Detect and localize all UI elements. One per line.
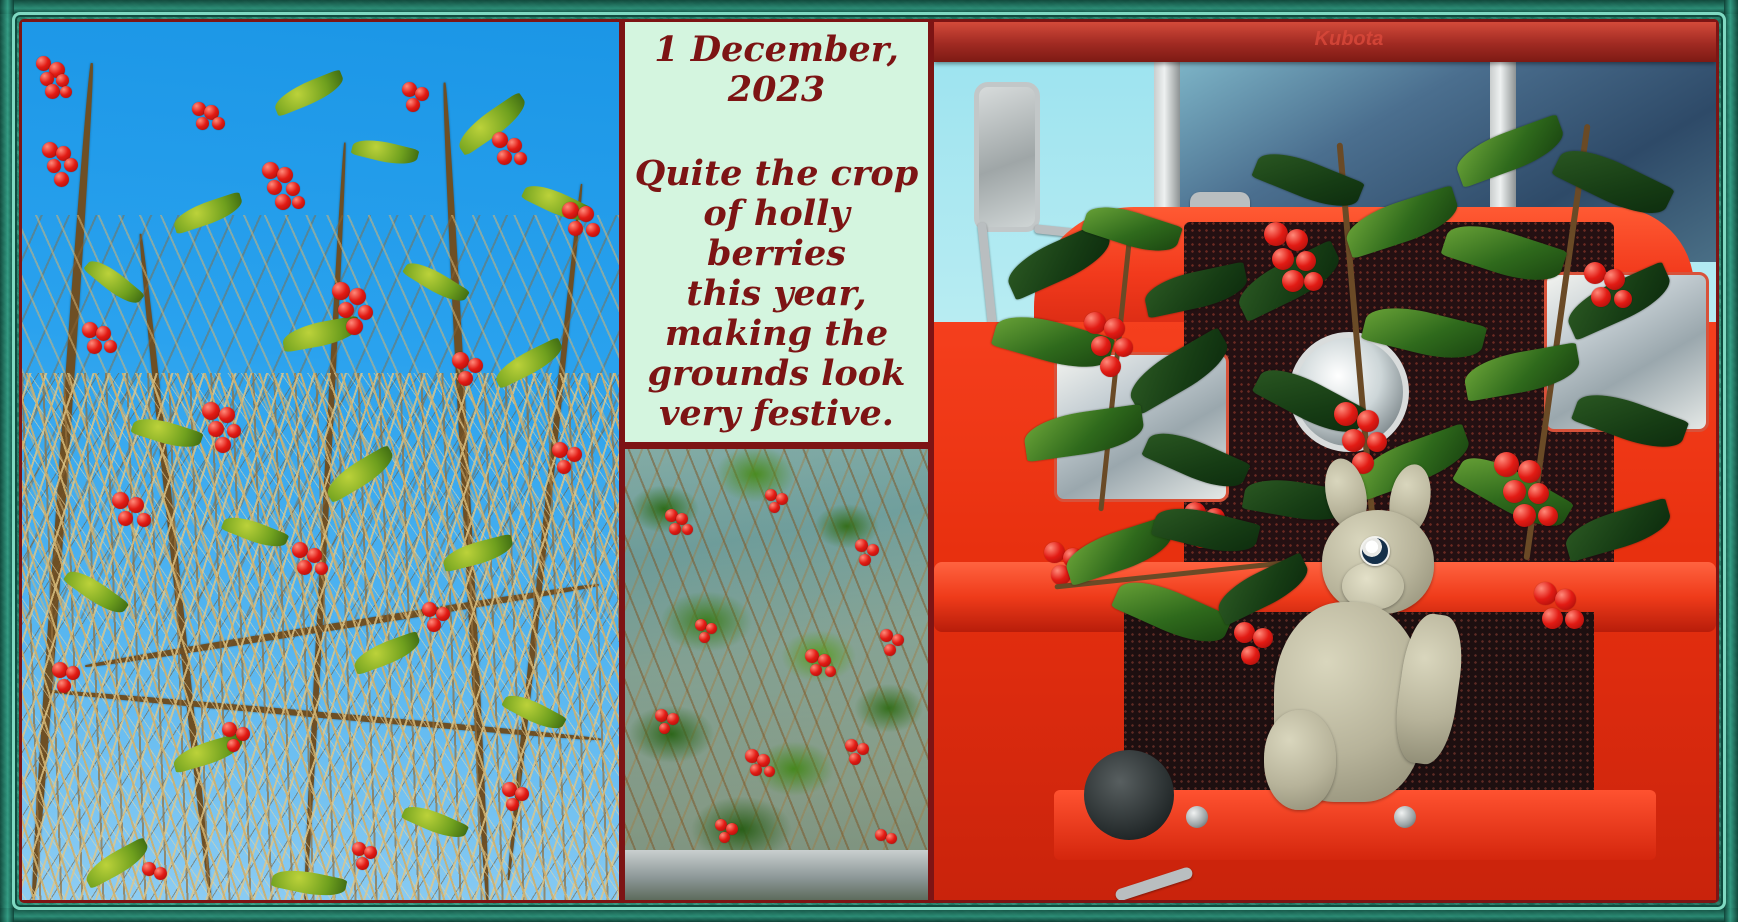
caption-body-line: grounds look [631,354,922,394]
caption-body: Quite the crop of holly berries this yea… [631,154,922,433]
panel-caption-card[interactable]: 1 December, 2023 Quite the crop of holly… [625,22,928,442]
frame-bottom-sheen [0,908,1738,922]
kubota-badge: Kubota [1264,28,1434,52]
hitch-assembly [1084,750,1174,840]
panel-red-tractor[interactable]: Kubota [934,22,1716,900]
divider-caption-bush [625,442,928,449]
divider-left-centre [619,19,625,903]
bear-leg [1264,710,1336,810]
caption-date-line: 1 December, [631,30,922,70]
caption-body-line: making the [631,314,922,354]
caption-date-line: 2023 [631,70,922,110]
caption-body-line: of holly berries [631,194,922,274]
caption-body-line: this year, [631,274,922,314]
bear-eye [1360,536,1390,566]
caption-body-line: Quite the crop [631,154,922,194]
panel-holly-tree-sky[interactable] [22,22,619,900]
collage-board: 1 December, 2023 Quite the crop of holly… [19,19,1719,903]
building-roofline [625,850,928,900]
panel-holly-bush[interactable] [625,449,928,900]
bare-twigs [22,373,619,900]
caption-body-line: very festive. [631,394,922,434]
caption-date: 1 December, 2023 [631,30,922,110]
divider-centre-right [928,19,934,903]
frame-right-sheen [1724,0,1738,922]
caption-text-block: 1 December, 2023 Quite the crop of holly… [625,30,928,433]
collage-canvas: 1 December, 2023 Quite the crop of holly… [0,0,1738,922]
bolt [1186,806,1208,828]
teddy-bear-toy[interactable] [1264,492,1479,822]
caption-spacer [631,114,922,154]
